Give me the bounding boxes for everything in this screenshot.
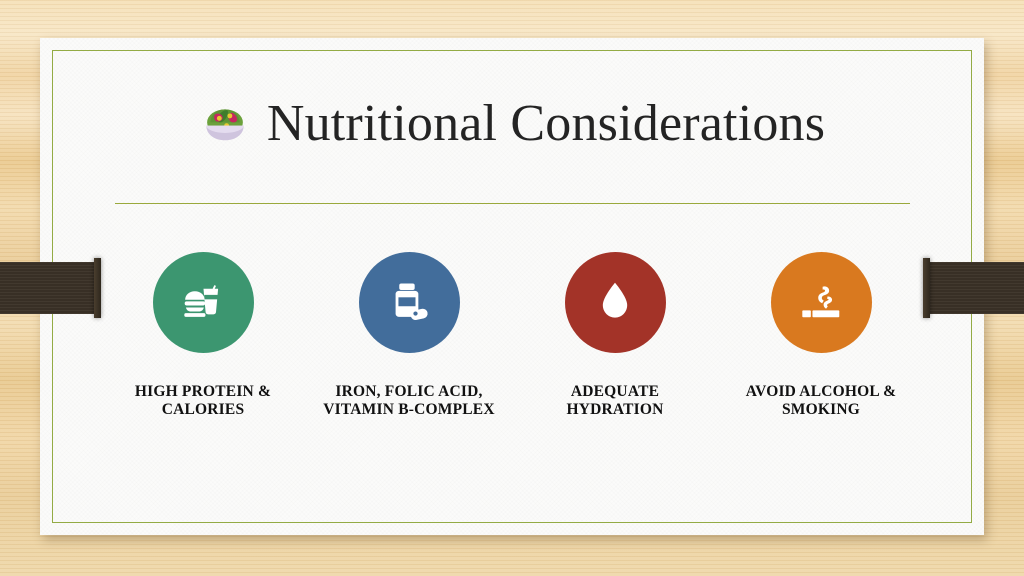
right-strap-cap [923, 258, 930, 318]
feature-label: HIGH PROTEIN & CALORIES [113, 383, 293, 419]
feature-row: HIGH PROTEIN & CALORIES IRON, FOLIC ACID… [100, 252, 924, 419]
title-divider [115, 203, 910, 204]
slide-canvas: Nutritional Considerations HIGH PROTEIN [0, 0, 1024, 576]
feature-item-supplements: IRON, FOLIC ACID, VITAMIN B-COMPLEX [306, 252, 512, 419]
water-drop-circle [565, 252, 666, 353]
fast-food-icon [177, 277, 229, 329]
fast-food-circle [153, 252, 254, 353]
feature-label: IRON, FOLIC ACID, VITAMIN B-COMPLEX [319, 383, 499, 419]
pill-bottle-icon [383, 277, 435, 329]
cigarette-circle [771, 252, 872, 353]
feature-item-hydration: ADEQUATE HYDRATION [512, 252, 718, 419]
left-strap-cap [94, 258, 101, 318]
page-title: Nutritional Considerations [267, 98, 825, 150]
right-strap [926, 262, 1024, 314]
cigarette-icon [795, 277, 847, 329]
water-drop-icon [589, 277, 641, 329]
feature-label: ADEQUATE HYDRATION [525, 383, 705, 419]
salad-bowl-icon [199, 98, 251, 150]
feature-item-protein: HIGH PROTEIN & CALORIES [100, 252, 306, 419]
slide-title-row: Nutritional Considerations [0, 98, 1024, 150]
pill-bottle-circle [359, 252, 460, 353]
feature-item-avoid: AVOID ALCOHOL & SMOKING [718, 252, 924, 419]
left-strap [0, 262, 98, 314]
feature-label: AVOID ALCOHOL & SMOKING [731, 383, 911, 419]
